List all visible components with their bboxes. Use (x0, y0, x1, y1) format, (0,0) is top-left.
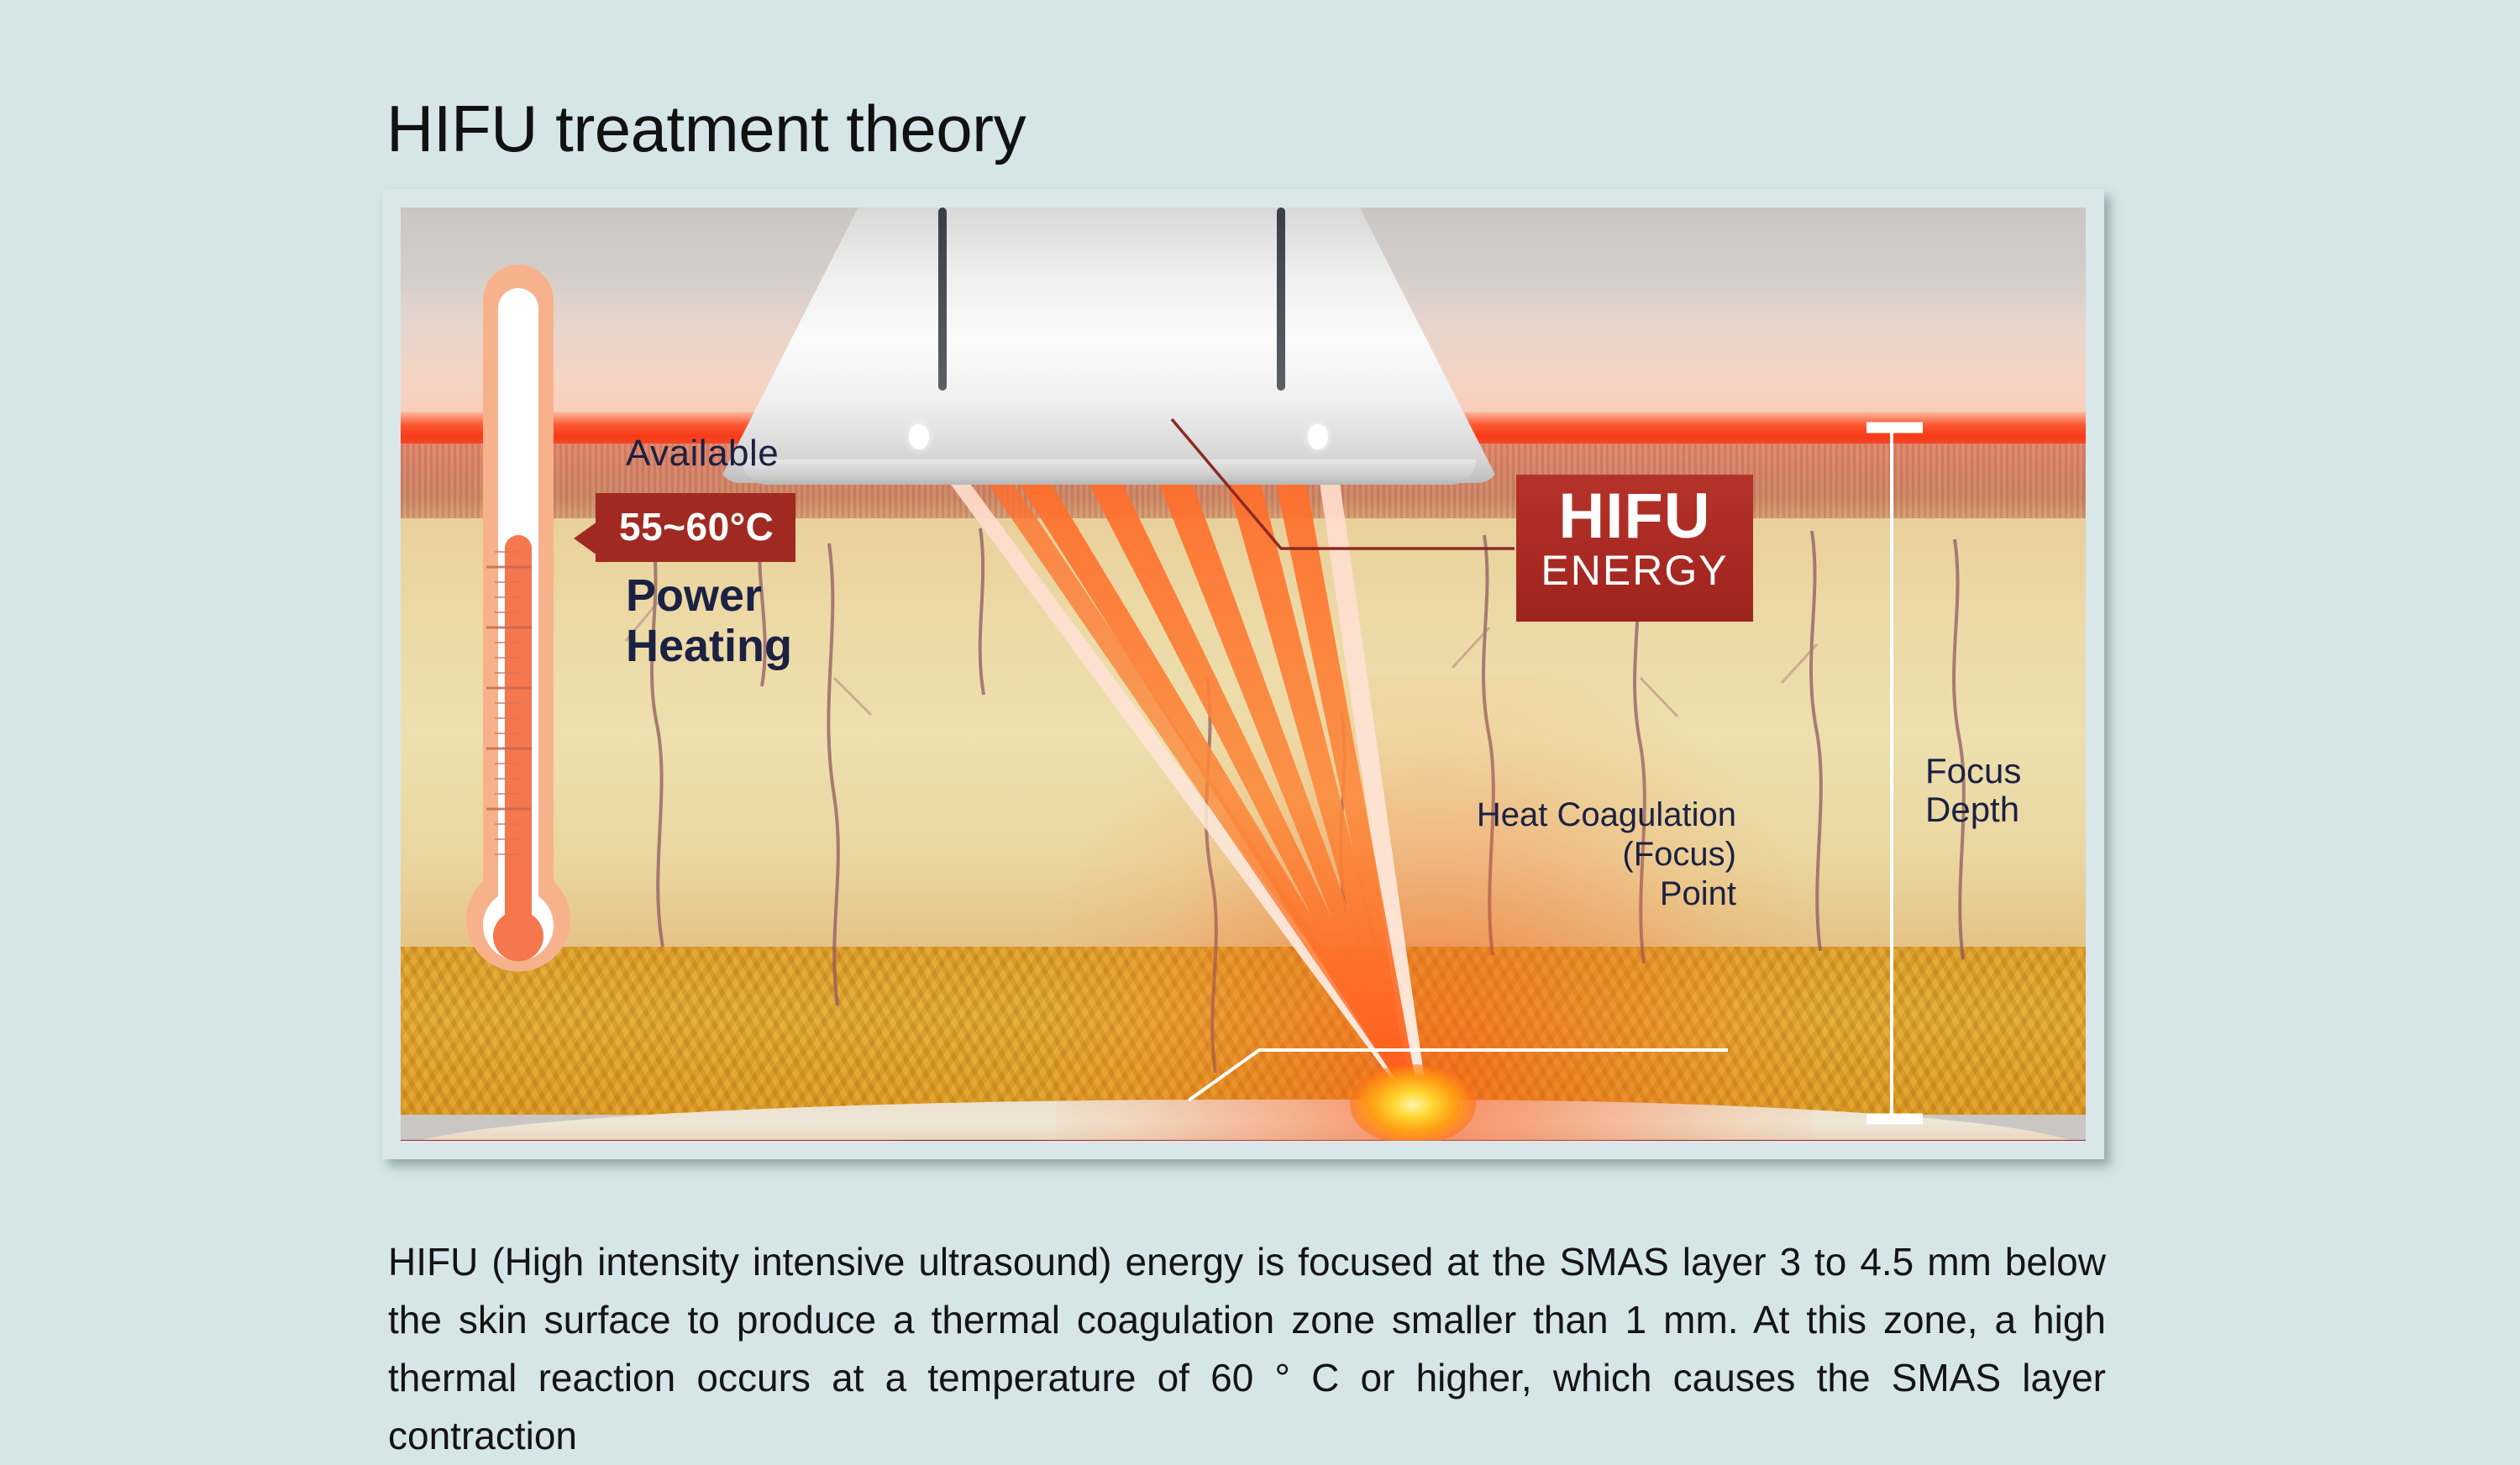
page-title: HIFU treatment theory (386, 96, 1026, 161)
hifu-energy-badge: HIFU ENERGY (1516, 475, 1753, 622)
available-label: Available (626, 433, 779, 475)
heat-coagulation-label: Heat Coagulation (Focus) Point (1375, 796, 1736, 915)
temperature-badge-arrow (574, 522, 597, 555)
emitter-dot-right (1308, 424, 1328, 449)
thermometer-icon (451, 258, 585, 1106)
transducer-face (742, 459, 1476, 485)
focal-coagulation-point (1350, 1064, 1476, 1141)
emitter-dot-left (909, 424, 929, 449)
transducer-slot-right (1277, 207, 1285, 391)
power-heating-label: Power Heating (626, 570, 792, 672)
transducer-slot-left (938, 207, 947, 391)
temperature-badge: 55~60°C (596, 493, 795, 562)
focus-depth-label: Focus Depth (1925, 752, 2021, 829)
hifu-badge-title: HIFU (1516, 485, 1753, 549)
figure-caption: HIFU (High intensity intensive ultrasoun… (388, 1233, 2106, 1465)
hifu-skin-cross-section-illustration: Available 55~60°C Power Heating HIFU ENE… (401, 207, 2086, 1141)
hifu-badge-subtitle: ENERGY (1516, 549, 1753, 593)
figure-frame: Available 55~60°C Power Heating HIFU ENE… (382, 189, 2104, 1159)
